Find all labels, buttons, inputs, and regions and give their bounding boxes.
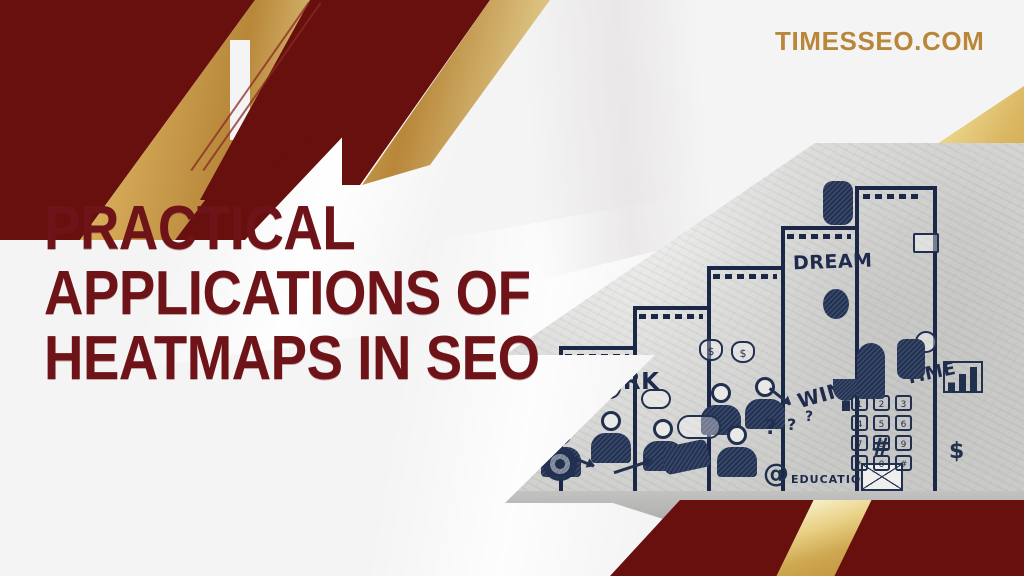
speech-bubble-icon: [539, 389, 569, 409]
bottom-gold-stripe: [776, 500, 871, 576]
stair-dash: [505, 394, 555, 399]
keypad-key: *: [851, 455, 868, 471]
person-head-icon: [711, 383, 731, 403]
at-sign-icon: @: [763, 459, 789, 489]
brand-logo: TIMESSEO.COM: [775, 26, 984, 57]
person-body-icon: [717, 447, 757, 477]
stair-step-2: [559, 346, 637, 506]
headline-line-3: HEATMAPS IN SEO: [44, 326, 502, 391]
stair-dash: [713, 274, 777, 279]
doodle-label-dream: DREAM: [793, 250, 873, 275]
flag-icon: [897, 339, 925, 379]
speech-bubble-icon: [677, 415, 721, 439]
question-mark-icon: ?: [765, 415, 777, 439]
stair-dash: [863, 194, 921, 199]
person-head-icon: [551, 425, 571, 445]
person-head-icon: [601, 411, 621, 431]
exclamation-blob-icon: [823, 289, 849, 319]
speech-bubble-icon: [641, 389, 671, 409]
rocket-icon: [857, 343, 885, 399]
person-body-icon: [591, 433, 631, 463]
dollar-sign-icon: $: [949, 439, 964, 464]
monitor-icon: [913, 233, 939, 253]
bottom-right-maroon-band: [0, 500, 1024, 576]
target-icon: [543, 447, 577, 481]
person-head-icon: [727, 425, 747, 445]
question-mark-icon: ?: [805, 409, 813, 425]
keypad-key: 4: [851, 415, 868, 431]
keypad-key: 9: [895, 435, 912, 451]
bar-chart-icon: [943, 361, 983, 393]
keypad-key: 7: [851, 435, 868, 451]
page-title: PRACTICAL APPLICATIONS OF HEATMAPS IN SE…: [44, 196, 564, 391]
stair-dash: [565, 354, 629, 359]
speech-bubble-icon: [587, 377, 621, 399]
headline-line-2: APPLICATIONS OF: [44, 261, 502, 326]
stair-step-1: [505, 386, 563, 506]
keypad-key: 3: [895, 395, 912, 411]
money-bag-icon: $: [699, 339, 723, 361]
question-mark-icon: ?: [787, 415, 796, 434]
banner-canvas: TIMESSEO.COM WORK DREAM WIN TIME EDUCATI…: [0, 0, 1024, 576]
thought-bubble-icon: [505, 393, 551, 423]
doodle-wall-image: WORK DREAM WIN TIME EDUCATION ! ? ? ? # …: [505, 143, 1024, 543]
keypad-key: 6: [895, 415, 912, 431]
exclamation-blob-icon: [823, 181, 853, 225]
keypad-key: #: [895, 455, 912, 471]
keypad-key: 5: [873, 415, 890, 431]
headline-line-1: PRACTICAL: [44, 196, 502, 261]
keypad-key: 8: [873, 435, 890, 451]
stair-dash: [787, 234, 851, 239]
top-left-chevron-decoration-2: [190, 0, 550, 200]
person-head-icon: [755, 377, 775, 397]
exclamation-question-icon: !: [513, 395, 521, 415]
person-head-icon: [653, 419, 673, 439]
money-bag-icon: $: [731, 341, 755, 363]
stair-dash: [639, 314, 703, 319]
doodle-label-education: EDUCATION: [791, 473, 871, 486]
keypad-key: 0: [873, 455, 890, 471]
